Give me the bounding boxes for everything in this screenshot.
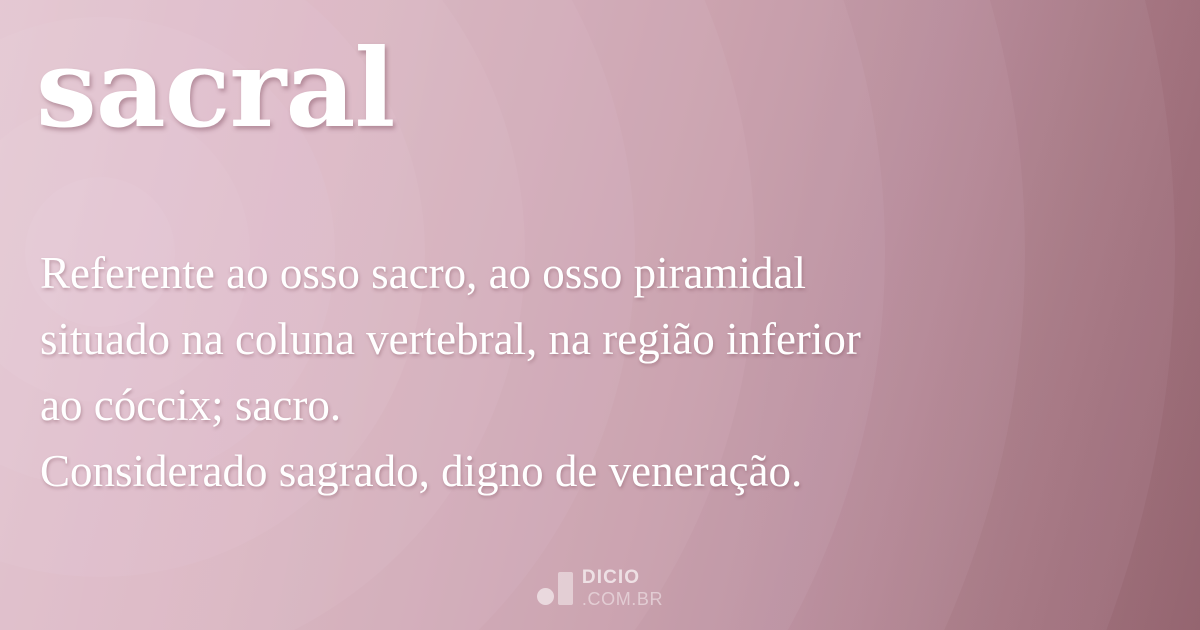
dicio-logo: DICIO .COM.BR (0, 568, 1200, 608)
definition-line: Considerado sagrado, digno de veneração. (40, 438, 1150, 504)
logo-mark (537, 571, 573, 605)
bar-mark-icon (558, 572, 573, 605)
dictionary-card: sacral Referente ao osso sacro, ao osso … (0, 0, 1200, 630)
logo-domain-suffix: .COM.BR (582, 590, 663, 608)
headword-title: sacral (36, 34, 394, 144)
definition-line: Referente ao osso sacro, ao osso piramid… (40, 240, 1150, 306)
logo-wordmark: DICIO .COM.BR (582, 568, 663, 608)
definition-line: ao cóccix; sacro. (40, 372, 1150, 438)
definition-line: situado na coluna vertebral, na região i… (40, 306, 1150, 372)
definition-block: Referente ao osso sacro, ao osso piramid… (40, 240, 1150, 504)
circle-mark-icon (537, 588, 554, 605)
card-content: sacral Referente ao osso sacro, ao osso … (0, 0, 1200, 630)
logo-brand-name: DICIO (582, 568, 663, 587)
